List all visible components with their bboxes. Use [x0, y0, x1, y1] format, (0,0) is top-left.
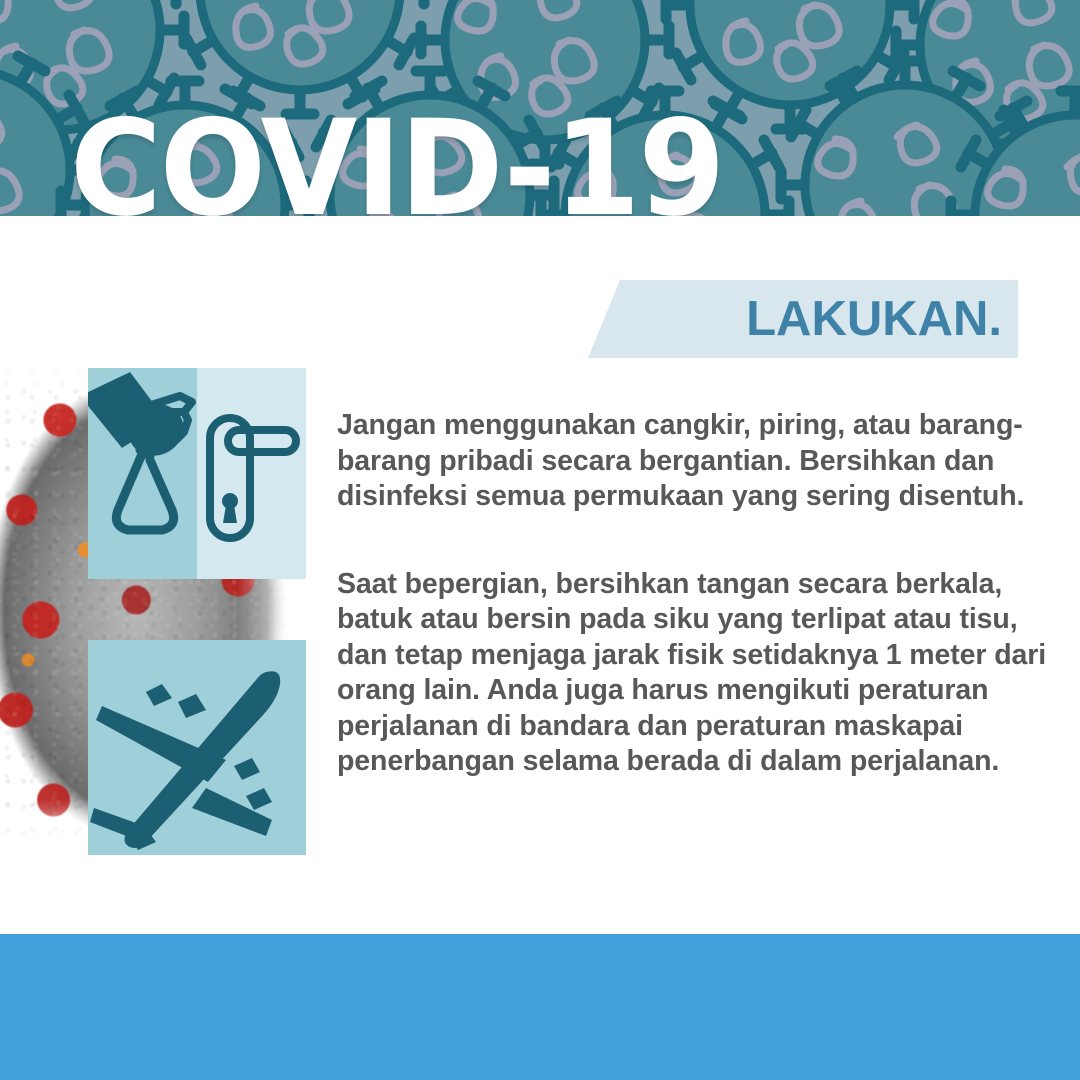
paragraph-hygiene: Jangan menggunakan cangkir, piring, atau… [337, 408, 1052, 515]
panel-two-glyphs [88, 640, 306, 855]
paragraph-travel: Saat bepergian, bersihkan tangan secara … [337, 567, 1052, 780]
icon-panel-travel [88, 640, 306, 855]
poster-canvas: COVID-19 [0, 0, 1080, 1080]
panel-one-glyphs [88, 368, 306, 579]
body-text-block: Jangan menggunakan cangkir, piring, atau… [337, 408, 1052, 780]
keyhole-icon [222, 493, 238, 523]
airplane-icon [90, 671, 280, 850]
callout-label: LAKUKAN. [746, 295, 1018, 344]
callout-banner: LAKUKAN. [588, 280, 1018, 358]
icon-panel-clean-surfaces [88, 368, 306, 579]
page-title: COVID-19 [70, 102, 723, 216]
footer-bar: World Health Organization Indonesia WASP… [0, 934, 1080, 1080]
header-banner: COVID-19 [0, 0, 1080, 216]
spray-bottle-icon [88, 372, 192, 530]
door-handle-icon [210, 418, 296, 538]
